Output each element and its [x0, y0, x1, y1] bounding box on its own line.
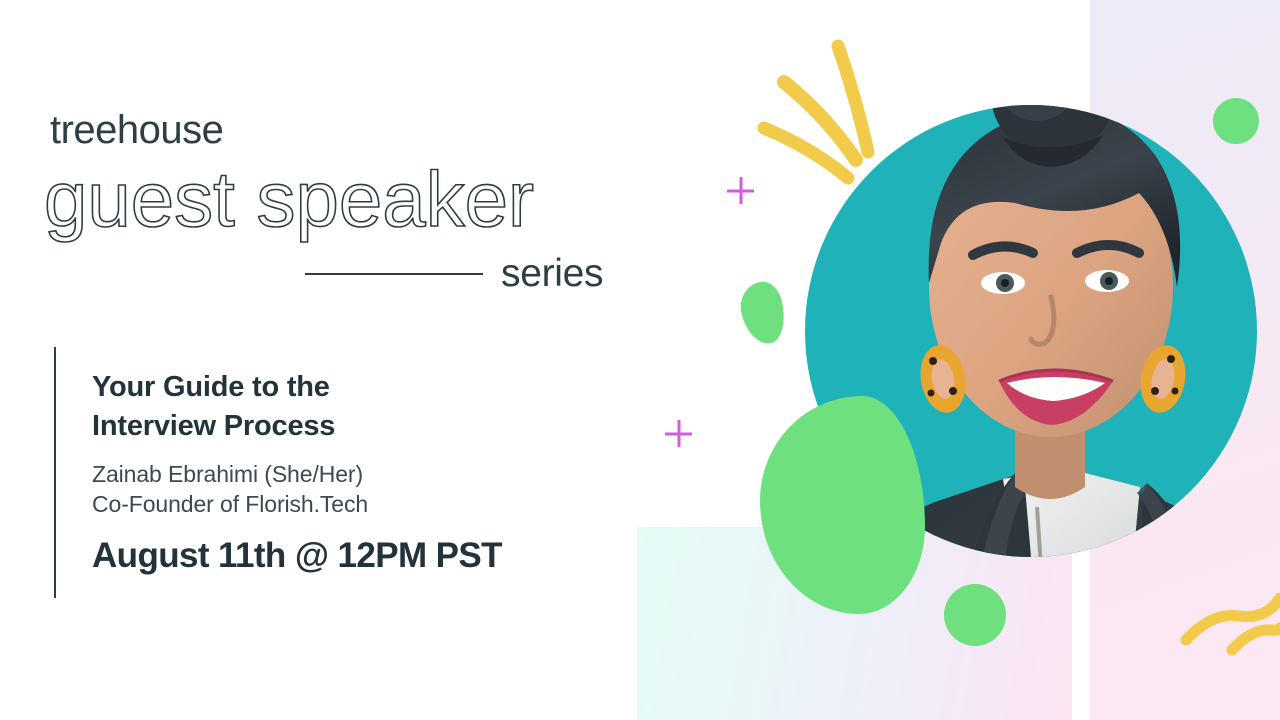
- brand-wordmark: treehouse: [50, 108, 223, 153]
- green-circle-left-icon: [858, 500, 920, 562]
- plus-mark-upper-icon: [727, 177, 754, 204]
- vertical-accent-rule: [54, 347, 56, 598]
- headline-outline: guest speaker: [44, 160, 534, 238]
- green-blob-small-icon: [736, 278, 790, 347]
- event-datetime: August 11th @ 12PM PST: [92, 536, 612, 576]
- series-divider-rule: [305, 273, 483, 275]
- talk-title: Your Guide to the Interview Process: [92, 368, 612, 445]
- speaker-info: Zainab Ebrahimi (She/Her) Co-Founder of …: [92, 459, 612, 520]
- green-circle-top-icon: [1213, 98, 1259, 144]
- speaker-role: Co-Founder of Florish.Tech: [92, 489, 612, 519]
- series-label: series: [501, 252, 603, 296]
- promo-slide: treehouse guest speaker series Your Guid…: [0, 0, 1280, 720]
- talk-title-line-1: Your Guide to the: [92, 368, 612, 407]
- talk-title-line-2: Interview Process: [92, 407, 612, 446]
- event-details-block: Your Guide to the Interview Process Zain…: [92, 368, 612, 576]
- speaker-name: Zainab Ebrahimi (She/Her): [92, 459, 612, 489]
- green-circle-bottom-icon: [944, 584, 1006, 646]
- series-row: series: [305, 252, 603, 296]
- plus-mark-lower-icon: [665, 420, 692, 447]
